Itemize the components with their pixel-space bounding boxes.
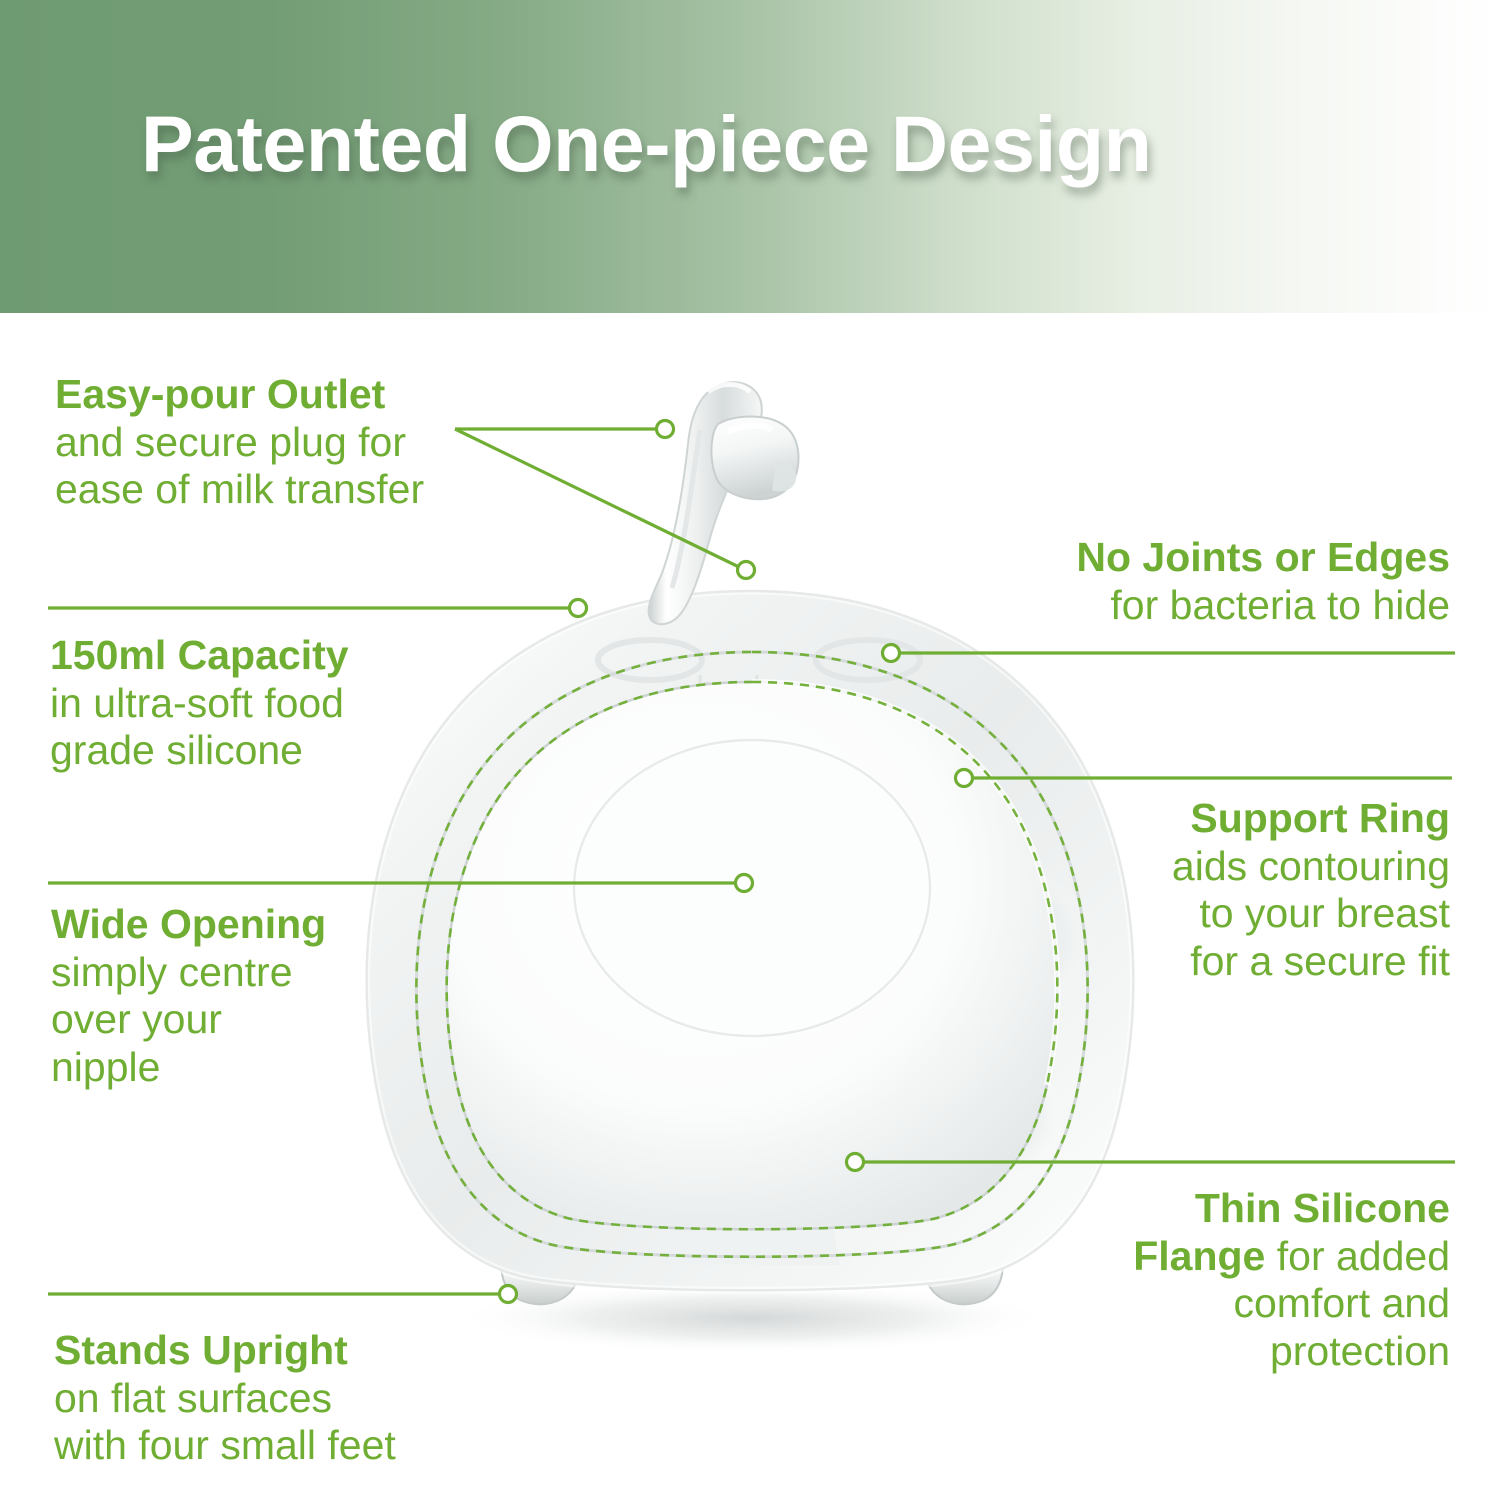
leader-dot-flange	[847, 1154, 864, 1171]
infographic-canvas: Patented One-piece Design	[0, 0, 1500, 1500]
callout-wide-line4: nipple	[51, 1044, 411, 1092]
callout-support-line3: to your breast	[1110, 890, 1450, 938]
callout-nojoints-line1: No Joints or Edges	[970, 534, 1450, 582]
leader-dot-support-ring	[956, 770, 973, 787]
callout-outlet-line3: ease of milk transfer	[55, 466, 485, 514]
callout-stands-line2: on flat surfaces	[54, 1375, 484, 1423]
leader-dot-no-joints	[883, 645, 900, 662]
callout-easy-pour-outlet: Easy-pour Outlet and secure plug for eas…	[55, 371, 485, 514]
callout-stands-upright: Stands Upright on flat surfaces with fou…	[54, 1327, 484, 1470]
callout-flange-line2-rest: for added	[1265, 1233, 1450, 1279]
callout-nojoints-line2: for bacteria to hide	[970, 582, 1450, 630]
callout-capacity: 150ml Capacity in ultra-soft food grade …	[50, 632, 440, 775]
leader-dot-outlet	[657, 421, 674, 438]
callout-flange-line2-bold: Flange	[1133, 1233, 1265, 1279]
callout-flange-line1: Thin Silicone	[1080, 1185, 1450, 1233]
callout-no-joints-or-edges: No Joints or Edges for bacteria to hide	[970, 534, 1450, 629]
callout-support-line1: Support Ring	[1110, 795, 1450, 843]
callout-support-ring: Support Ring aids contouring to your bre…	[1110, 795, 1450, 985]
callout-capacity-line3: grade silicone	[50, 727, 440, 775]
leader-dot-wide-opening	[736, 875, 753, 892]
leader-dot-stands	[500, 1286, 517, 1303]
callout-stands-line1: Stands Upright	[54, 1327, 484, 1375]
callout-wide-line2: simply centre	[51, 949, 411, 997]
callout-flange-line3: comfort and	[1080, 1280, 1450, 1328]
callout-flange-line4: protection	[1080, 1328, 1450, 1376]
callout-capacity-line2: in ultra-soft food	[50, 680, 440, 728]
callout-wide-opening: Wide Opening simply centre over your nip…	[51, 901, 411, 1091]
callout-thin-silicone-flange: Thin Silicone Flange for added comfort a…	[1080, 1185, 1450, 1375]
leader-outlet-diagonal	[455, 429, 739, 567]
leader-dot-plug	[738, 562, 755, 579]
callout-capacity-line1: 150ml Capacity	[50, 632, 440, 680]
callout-outlet-line1: Easy-pour Outlet	[55, 371, 485, 419]
callout-stands-line3: with four small feet	[54, 1422, 484, 1470]
callout-support-line4: for a secure fit	[1110, 938, 1450, 986]
leader-dot-capacity	[570, 600, 587, 617]
callout-outlet-line2: and secure plug for	[55, 419, 485, 467]
callout-wide-line3: over your	[51, 996, 411, 1044]
callout-flange-line2: Flange for added	[1080, 1233, 1450, 1281]
callout-support-line2: aids contouring	[1110, 843, 1450, 891]
callout-wide-line1: Wide Opening	[51, 901, 411, 949]
